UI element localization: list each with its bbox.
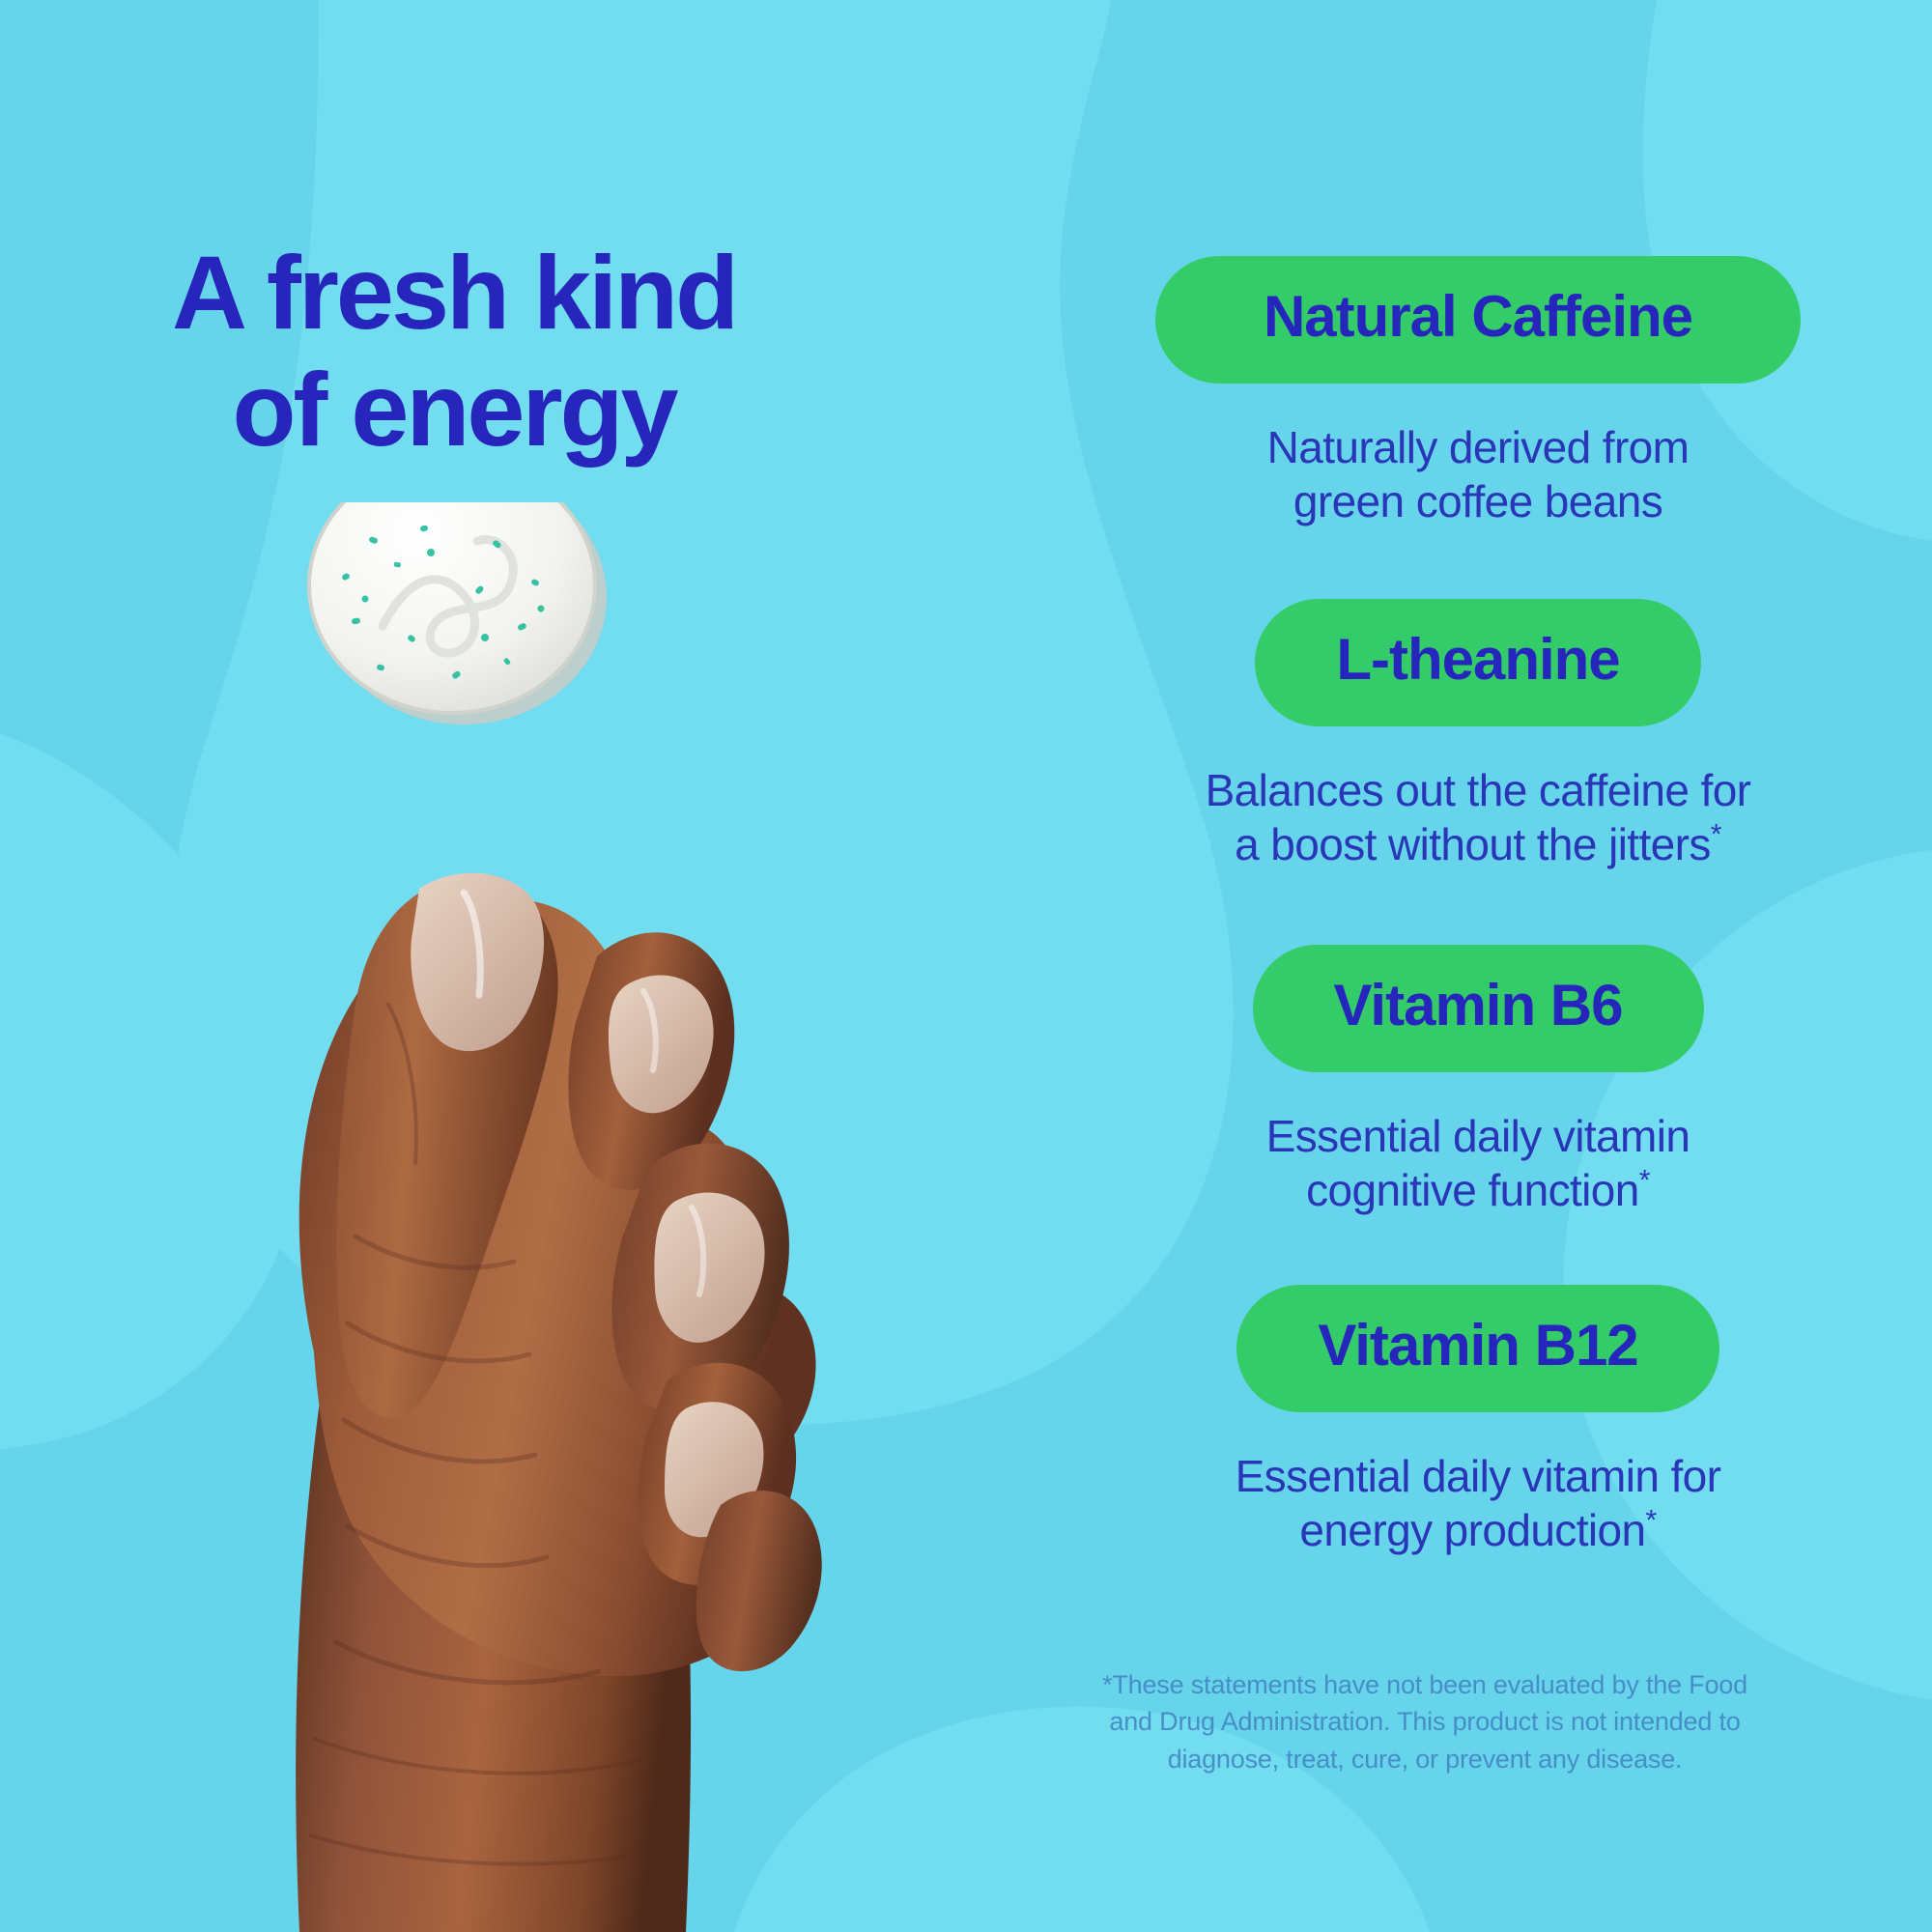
ingredient-description: Essential daily vitamin cognitive functi… (1024, 1109, 1932, 1217)
description-line-1: Essential daily vitamin (1024, 1109, 1932, 1163)
description-line-2-text: a boost without the jitters (1235, 819, 1711, 869)
description-line-2: green coffee beans (1024, 474, 1932, 528)
description-line-1: Naturally derived from (1024, 420, 1932, 474)
fda-disclaimer: *These statements have not been evaluate… (1024, 1666, 1826, 1777)
asterisk-marker: * (1711, 819, 1721, 851)
page-title: A fresh kind of energy (0, 235, 908, 469)
ingredient-pill-label[interactable]: Vitamin B6 (1253, 945, 1704, 1072)
ingredient-vitamin-b6: Vitamin B6 Essential daily vitamin cogni… (1024, 945, 1932, 1217)
hand-holding-tablet-illustration (145, 502, 918, 1932)
headline-line-2: of energy (0, 352, 908, 469)
description-line-2-text: energy production (1299, 1505, 1645, 1555)
ingredient-description: Essential daily vitamin for energy produ… (1024, 1449, 1932, 1557)
description-line-1: Essential daily vitamin for (1024, 1449, 1932, 1503)
ingredient-description: Naturally derived from green coffee bean… (1024, 420, 1932, 528)
description-line-2-text: cognitive function (1306, 1165, 1639, 1215)
description-line-2: cognitive function* (1024, 1163, 1932, 1217)
description-line-2: a boost without the jitters* (1024, 817, 1932, 871)
disclaimer-line-3: diagnose, treat, cure, or prevent any di… (1024, 1741, 1826, 1777)
ingredient-description: Balances out the caffeine for a boost wi… (1024, 763, 1932, 871)
asterisk-marker: * (1639, 1165, 1650, 1197)
description-line-2: energy production* (1024, 1503, 1932, 1557)
description-line-1: Balances out the caffeine for (1024, 763, 1932, 817)
product-hand-image (145, 502, 918, 1932)
ingredient-pill-label[interactable]: Vitamin B12 (1236, 1285, 1719, 1412)
disclaimer-line-2: and Drug Administration. This product is… (1024, 1703, 1826, 1740)
ingredient-vitamin-b12: Vitamin B12 Essential daily vitamin for … (1024, 1285, 1932, 1557)
effervescent-tablet (309, 502, 607, 724)
asterisk-marker: * (1645, 1505, 1656, 1537)
ingredient-natural-caffeine: Natural Caffeine Naturally derived from … (1024, 256, 1932, 528)
disclaimer-line-1: *These statements have not been evaluate… (1024, 1666, 1826, 1703)
pinky-finger (696, 1491, 822, 1671)
ingredient-pill-label[interactable]: L-theanine (1255, 599, 1700, 726)
ingredients-column: Natural Caffeine Naturally derived from … (1024, 0, 1932, 1932)
ingredient-l-theanine: L-theanine Balances out the caffeine for… (1024, 599, 1932, 871)
headline-line-1: A fresh kind (0, 235, 908, 352)
left-column: A fresh kind of energy (0, 0, 1024, 1932)
ingredient-pill-label[interactable]: Natural Caffeine (1155, 256, 1801, 384)
